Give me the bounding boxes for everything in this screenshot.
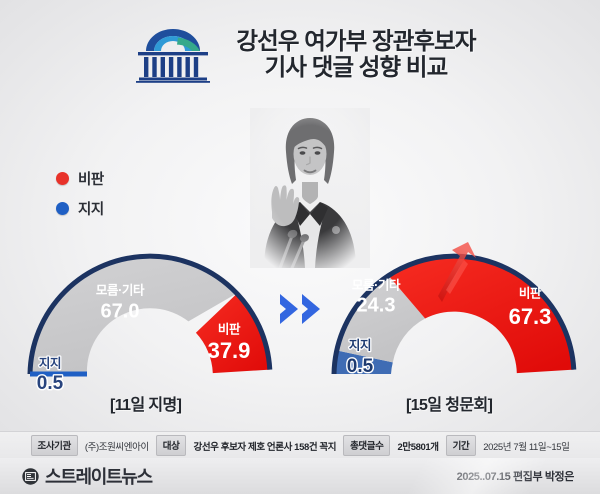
gauge-hearing-day15: 모름·기타 24.3 비판 67.3 지지 0.5 xyxy=(318,236,590,386)
national-assembly-emblem-icon xyxy=(124,25,222,87)
legend-item-support: 지지 xyxy=(56,198,104,219)
source-comments-value: 2만5801개 xyxy=(397,439,438,453)
label-criticism-left-value: 37.9 xyxy=(208,338,251,363)
gauge-right-svg: 모름·기타 24.3 비판 67.3 지지 0.5 xyxy=(318,236,590,386)
straight-news-emblem-icon xyxy=(22,468,39,485)
legend-label-criticism: 비판 xyxy=(78,168,104,189)
label-support-right-name: 지지 xyxy=(349,337,371,352)
legend-label-support: 지지 xyxy=(78,198,104,219)
label-criticism-left-name: 비판 xyxy=(218,321,241,336)
phase-label-hearing: [15일 청문회] xyxy=(406,391,492,415)
label-unknown-right-value: 24.3 xyxy=(357,294,396,316)
label-unknown-left-value: 67.0 xyxy=(101,300,140,322)
gauge-left-svg: 모름·기타 67.0 비판 37.9 지지 0.5 xyxy=(14,236,286,386)
phase-label-nomination: [11일 지명] xyxy=(110,391,181,415)
source-period-value: 2025년 7월 11일~15일 xyxy=(483,439,569,453)
blue-dot-icon xyxy=(56,202,69,215)
source-target-tag: 대상 xyxy=(156,435,187,456)
source-period-tag: 기간 xyxy=(446,435,477,456)
brand-logo[interactable]: 스트레이트뉴스 xyxy=(22,463,152,489)
source-comments-tag: 총댓글수 xyxy=(343,435,390,456)
label-unknown-left-name: 모름·기타 xyxy=(96,282,145,297)
legend-item-criticism: 비판 xyxy=(56,168,104,189)
gauge-nomination-day11: 모름·기타 67.0 비판 37.9 지지 0.5 xyxy=(14,236,286,386)
source-strip: 조사기관 (주)조원씨엔아이 대상 강선우 후보자 제호 언론사 158건 꼭지… xyxy=(0,431,600,460)
red-dot-icon xyxy=(56,172,69,185)
footer-credit: 2025..07.15 편집부 박정은 xyxy=(457,468,574,484)
brand-name: 스트레이트뉴스 xyxy=(45,463,152,489)
label-criticism-right-name: 비판 xyxy=(519,285,542,300)
label-criticism-right-value: 67.3 xyxy=(509,304,552,329)
header: 강선우 여가부 장관후보자 기사 댓글 성향 비교 xyxy=(0,0,600,108)
label-unknown-right-name: 모름·기타 xyxy=(352,277,401,292)
infographic-canvas: 강선우 여가부 장관후보자 기사 댓글 성향 비교 xyxy=(0,0,600,494)
title-line-1: 강선우 여가부 장관후보자 xyxy=(236,28,475,54)
page-title: 강선우 여가부 장관후보자 기사 댓글 성향 비교 xyxy=(236,28,475,81)
footer-bar: 스트레이트뉴스 2025..07.15 편집부 박정은 xyxy=(0,458,600,494)
title-line-2: 기사 댓글 성향 비교 xyxy=(265,54,448,80)
label-support-right-value: 0.5 xyxy=(347,356,374,377)
label-support-left-name: 지지 xyxy=(39,355,61,370)
source-target-value: 강선우 후보자 제호 언론사 158건 꼭지 xyxy=(193,439,336,453)
source-agency-value: (주)조원씨엔아이 xyxy=(85,439,149,453)
label-support-left-value: 0.5 xyxy=(37,373,64,394)
legend: 비판 지지 xyxy=(56,168,104,219)
source-agency-tag: 조사기관 xyxy=(31,435,78,456)
